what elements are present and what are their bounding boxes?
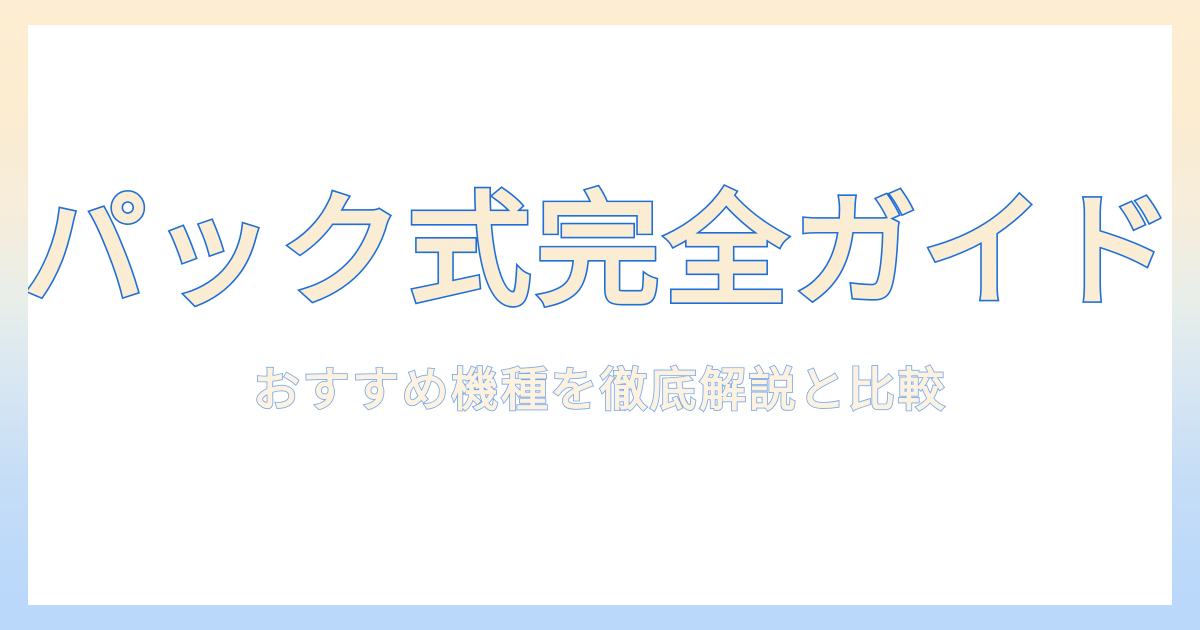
poster-canvas: パック式完全ガイド おすすめ機種を徹底解説と比較 — [0, 0, 1200, 630]
poster-card: パック式完全ガイド おすすめ機種を徹底解説と比較 — [28, 25, 1172, 605]
poster-subtitle: おすすめ機種を徹底解説と比較 — [253, 365, 947, 417]
poster-title: パック式完全ガイド — [28, 187, 1172, 318]
title-block: パック式完全ガイド — [28, 187, 1172, 318]
poster-content: パック式完全ガイド おすすめ機種を徹底解説と比較 — [28, 25, 1172, 605]
subtitle-block: おすすめ機種を徹底解説と比較 — [253, 365, 947, 417]
